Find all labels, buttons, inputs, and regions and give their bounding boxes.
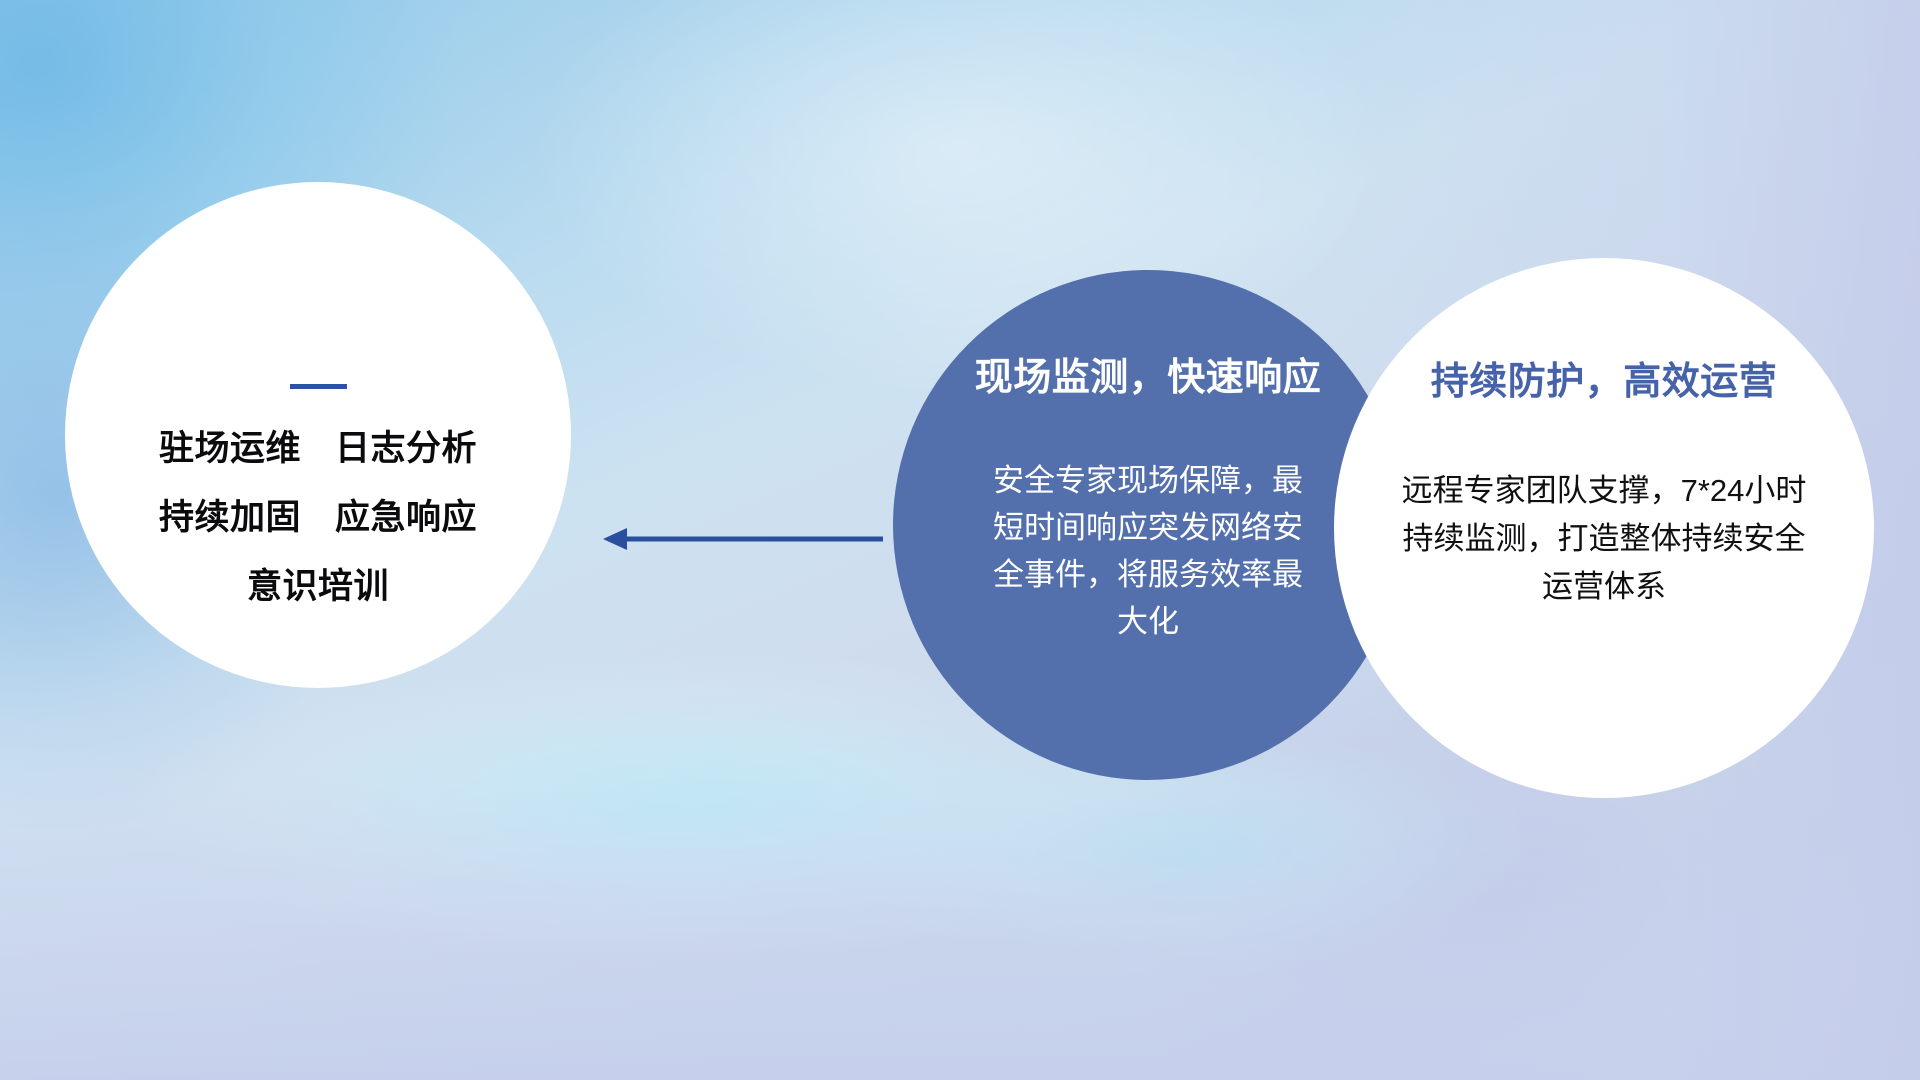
node-continuous-protection-content: 持续防护，高效运营 远程专家团队支撑，7*24小时持续监测，打造整体持续安全运营… <box>1334 258 1874 798</box>
node-onsite-monitoring-heading: 现场监测，快速响应 <box>975 346 1322 401</box>
node-onsite-monitoring-body: 安全专家现场保障，最短时间响应突发网络安全事件，将服务效率最大化 <box>988 457 1308 645</box>
node-continuous-protection-body: 远程专家团队支撑，7*24小时持续监测，打造整体持续安全运营体系 <box>1389 467 1819 611</box>
capability-item: 应急响应 <box>335 500 477 535</box>
divider-dash <box>290 384 347 389</box>
flow-arrow-left-icon <box>595 518 885 560</box>
capability-item: 持续加固 <box>159 500 301 535</box>
capability-row: 意识培训 <box>247 569 389 604</box>
capability-row: 持续加固 应急响应 <box>159 500 477 535</box>
capability-item: 驻场运维 <box>159 431 301 466</box>
node-continuous-protection-heading: 持续防护，高效运营 <box>1431 350 1778 405</box>
slide-canvas: 现场监测，快速响应 安全专家现场保障，最短时间响应突发网络安全事件，将服务效率最… <box>0 0 1920 1080</box>
capability-item: 意识培训 <box>247 569 389 604</box>
capability-row: 驻场运维 日志分析 <box>159 431 477 466</box>
node-onsite-monitoring-content: 现场监测，快速响应 安全专家现场保障，最短时间响应突发网络安全事件，将服务效率最… <box>893 270 1403 780</box>
capability-item: 日志分析 <box>335 431 477 466</box>
node-capabilities-content: 驻场运维 日志分析 持续加固 应急响应 意识培训 <box>65 182 571 688</box>
